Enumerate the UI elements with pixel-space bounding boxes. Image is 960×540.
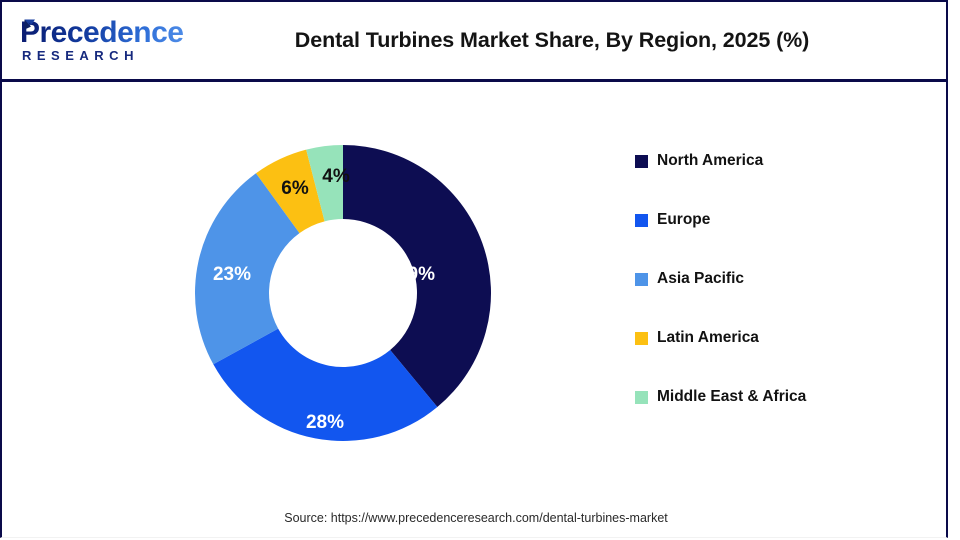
leaf-icon: [22, 18, 38, 34]
legend-swatch-icon: [635, 332, 648, 345]
slice-value-label: 4%: [322, 166, 349, 188]
chart-area: 39%28%23%6%4% North AmericaEuropeAsia Pa…: [2, 82, 950, 537]
legend-item[interactable]: Middle East & Africa: [635, 388, 875, 447]
chart-frame: Precedence RESEARCH Dental Turbines Mark…: [0, 0, 948, 538]
legend-swatch-icon: [635, 214, 648, 227]
precedence-research-logo: Precedence RESEARCH: [12, 16, 172, 68]
legend-item[interactable]: Asia Pacific: [635, 270, 875, 329]
legend-item-label: Asia Pacific: [657, 268, 872, 289]
slice-value-label: 6%: [281, 178, 308, 200]
slice-value-label: 23%: [213, 264, 251, 286]
legend-swatch-icon: [635, 273, 648, 286]
chart-legend: North AmericaEuropeAsia PacificLatin Ame…: [635, 152, 875, 447]
legend-item[interactable]: Latin America: [635, 329, 875, 388]
legend-item-label: Latin America: [657, 327, 872, 348]
logo-wordmark: Precedence: [20, 16, 183, 50]
logo-subtitle: RESEARCH: [22, 48, 139, 63]
slice-value-label: 39%: [397, 264, 435, 286]
source-caption: Source: https://www.precedenceresearch.c…: [2, 511, 950, 525]
legend-swatch-icon: [635, 391, 648, 404]
page-title: Dental Turbines Market Share, By Region,…: [182, 28, 922, 53]
legend-item-label: Middle East & Africa: [657, 386, 872, 407]
slice-value-label: 28%: [306, 412, 344, 434]
legend-item-label: Europe: [657, 209, 872, 230]
legend-item[interactable]: Europe: [635, 211, 875, 270]
legend-item-label: North America: [657, 150, 872, 171]
donut-chart: 39%28%23%6%4%: [195, 145, 491, 441]
legend-item[interactable]: North America: [635, 152, 875, 211]
donut-svg: [195, 145, 491, 441]
legend-swatch-icon: [635, 155, 648, 168]
header: Precedence RESEARCH Dental Turbines Mark…: [2, 2, 946, 82]
